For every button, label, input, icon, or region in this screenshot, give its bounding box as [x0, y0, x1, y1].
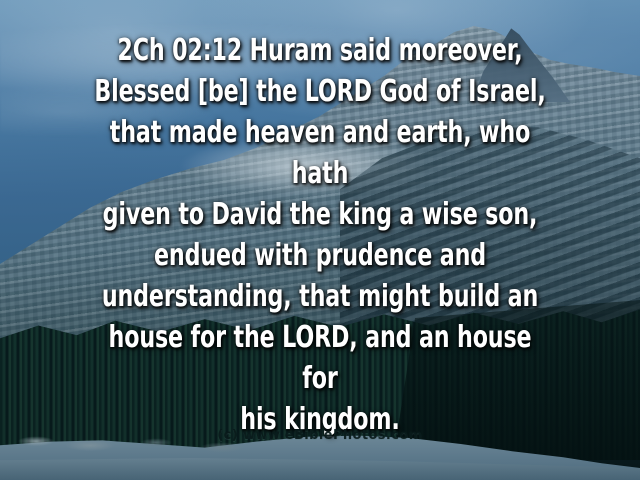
bible-verse-image: 2Ch 02:12 Huram said moreover, Blessed [… [0, 0, 640, 480]
watermark-credit: (c) www.eBiblePhotos.com [0, 428, 640, 443]
verse-text: 2Ch 02:12 Huram said moreover, Blessed [… [83, 30, 557, 440]
